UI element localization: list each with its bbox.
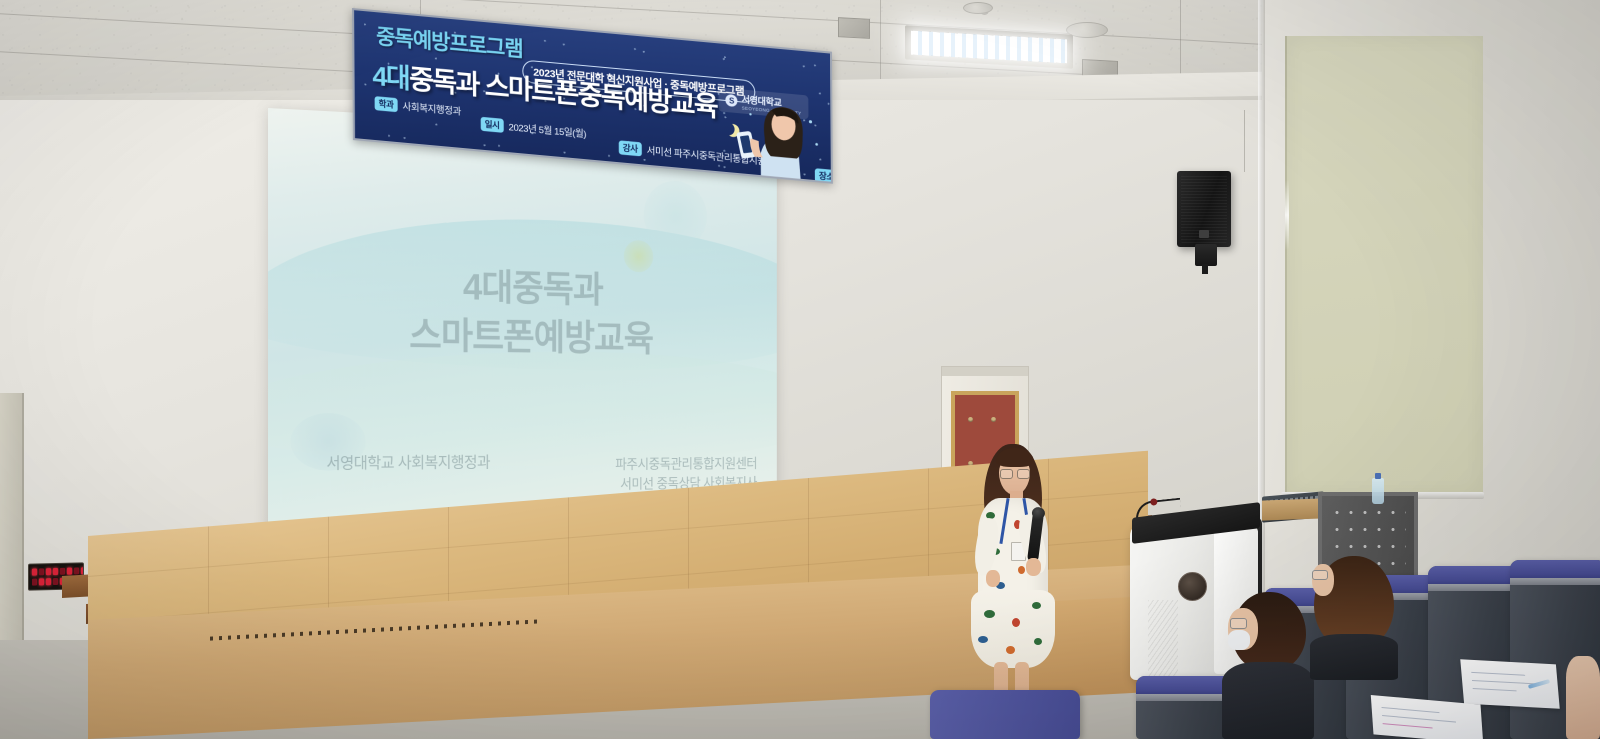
bottle-cap [1375,473,1381,479]
seated-student [1310,556,1398,676]
seated-student [1222,592,1312,739]
sprinkler-plate [963,2,993,14]
speaker-cable [1244,110,1245,172]
banner-title-lead: 4대 [372,61,409,94]
student-body [1566,656,1600,739]
face-mask [1228,630,1250,650]
dress-floral-motif [1034,638,1042,645]
water-bottle [1372,478,1384,504]
door-header [942,367,1028,376]
presenter-left-hand [986,570,1000,587]
glasses-icon [1312,570,1328,580]
lectern-speaker [1178,572,1207,601]
presenter-dress-hem [971,590,1055,668]
wall-speaker [1177,171,1231,247]
glasses-icon [1000,469,1029,477]
lecture-hall-photo: 4대중독과 스마트폰예방교육 서영대학교 사회복지행정과 파주시중독관리통합지원… [0,0,1600,739]
presenter-right-hand [1026,558,1041,576]
dress-floral-motif [1018,566,1025,574]
window-roller-blind[interactable] [1285,36,1483,496]
student-body [1222,662,1314,739]
banner-tag-instructor: 강사 [619,140,642,156]
slide-title: 4대중독과 스마트폰예방교육 [268,258,777,365]
slide-credit-left: 서영대학교 사회복지행정과 [326,449,490,473]
dress-floral-motif [984,610,995,618]
seated-student [1566,656,1600,739]
fluorescent-tubes [911,31,1067,64]
banner-illustration-girl [730,90,823,183]
dress-floral-motif [978,636,988,643]
ceiling-vent [838,17,870,39]
dress-floral-motif [1012,618,1020,627]
blind-highlight [1285,180,1289,250]
slide-credit-right-line-1: 파주시중독관리통합지원센터 [615,455,757,476]
speaker-logo [1199,230,1209,238]
microphone-capsule [1150,498,1158,506]
dress-floral-motif [1006,646,1015,654]
student-face [1312,564,1334,596]
student-body [1310,634,1398,680]
speaker-mount-bracket [1195,244,1217,266]
presenter-fringe [996,448,1034,467]
banner-tag-department: 학과 [375,96,398,112]
banner-tag-date: 일시 [481,117,504,133]
dress-floral-motif [1032,602,1041,609]
auditorium-seat[interactable] [930,690,1080,739]
slide-title-line-2: 스마트폰예방교육 [268,309,777,365]
glasses-icon [1230,618,1247,629]
